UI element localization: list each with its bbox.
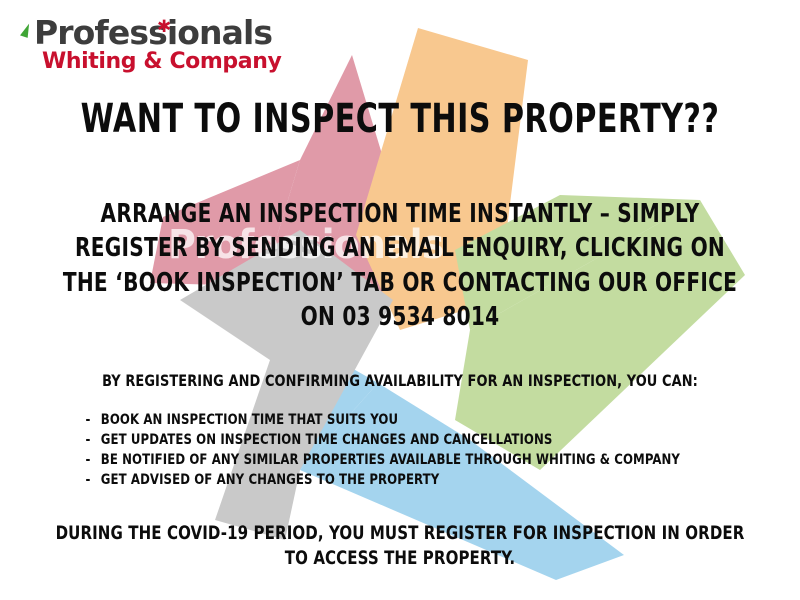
list-item: -GET UPDATES ON INSPECTION TIME CHANGES … xyxy=(0,430,720,450)
page-title: WANT TO INSPECT THIS PROPERTY?? xyxy=(64,99,736,139)
covid-notice: DURING THE COVID-19 PERIOD, YOU MUST REG… xyxy=(48,521,752,572)
bullet-marker: - xyxy=(86,470,101,490)
list-item-label: BE NOTIFIED OF ANY SIMILAR PROPERTIES AV… xyxy=(101,452,680,468)
list-item: -BE NOTIFIED OF ANY SIMILAR PROPERTIES A… xyxy=(0,450,720,470)
list-item-label: GET ADVISED OF ANY CHANGES TO THE PROPER… xyxy=(101,472,439,488)
benefits-lead-in: BY REGISTERING AND CONFIRMING AVAILABILI… xyxy=(40,373,760,389)
list-item-label: GET UPDATES ON INSPECTION TIME CHANGES A… xyxy=(101,432,553,448)
bullet-marker: - xyxy=(86,430,101,450)
bullet-marker: - xyxy=(86,450,101,470)
star-icon: ✱ xyxy=(157,18,171,35)
poster-canvas: Professionals ✱ Professionals Whiting & … xyxy=(0,0,800,600)
list-item-label: BOOK AN INSPECTION TIME THAT SUITS YOU xyxy=(101,412,398,428)
list-item: -GET ADVISED OF ANY CHANGES TO THE PROPE… xyxy=(0,470,720,490)
logo-brand-name: Professionals xyxy=(26,16,281,49)
instructions-paragraph: ARRANGE AN INSPECTION TIME INSTANTLY – S… xyxy=(56,197,744,334)
benefits-list: -BOOK AN INSPECTION TIME THAT SUITS YOU … xyxy=(0,410,800,490)
logo-office-name: Whiting & Company xyxy=(26,51,281,73)
professionals-logo[interactable]: ✱ Professionals Whiting & Company xyxy=(26,16,281,73)
list-item: -BOOK AN INSPECTION TIME THAT SUITS YOU xyxy=(0,410,720,430)
bullet-marker: - xyxy=(86,410,101,430)
